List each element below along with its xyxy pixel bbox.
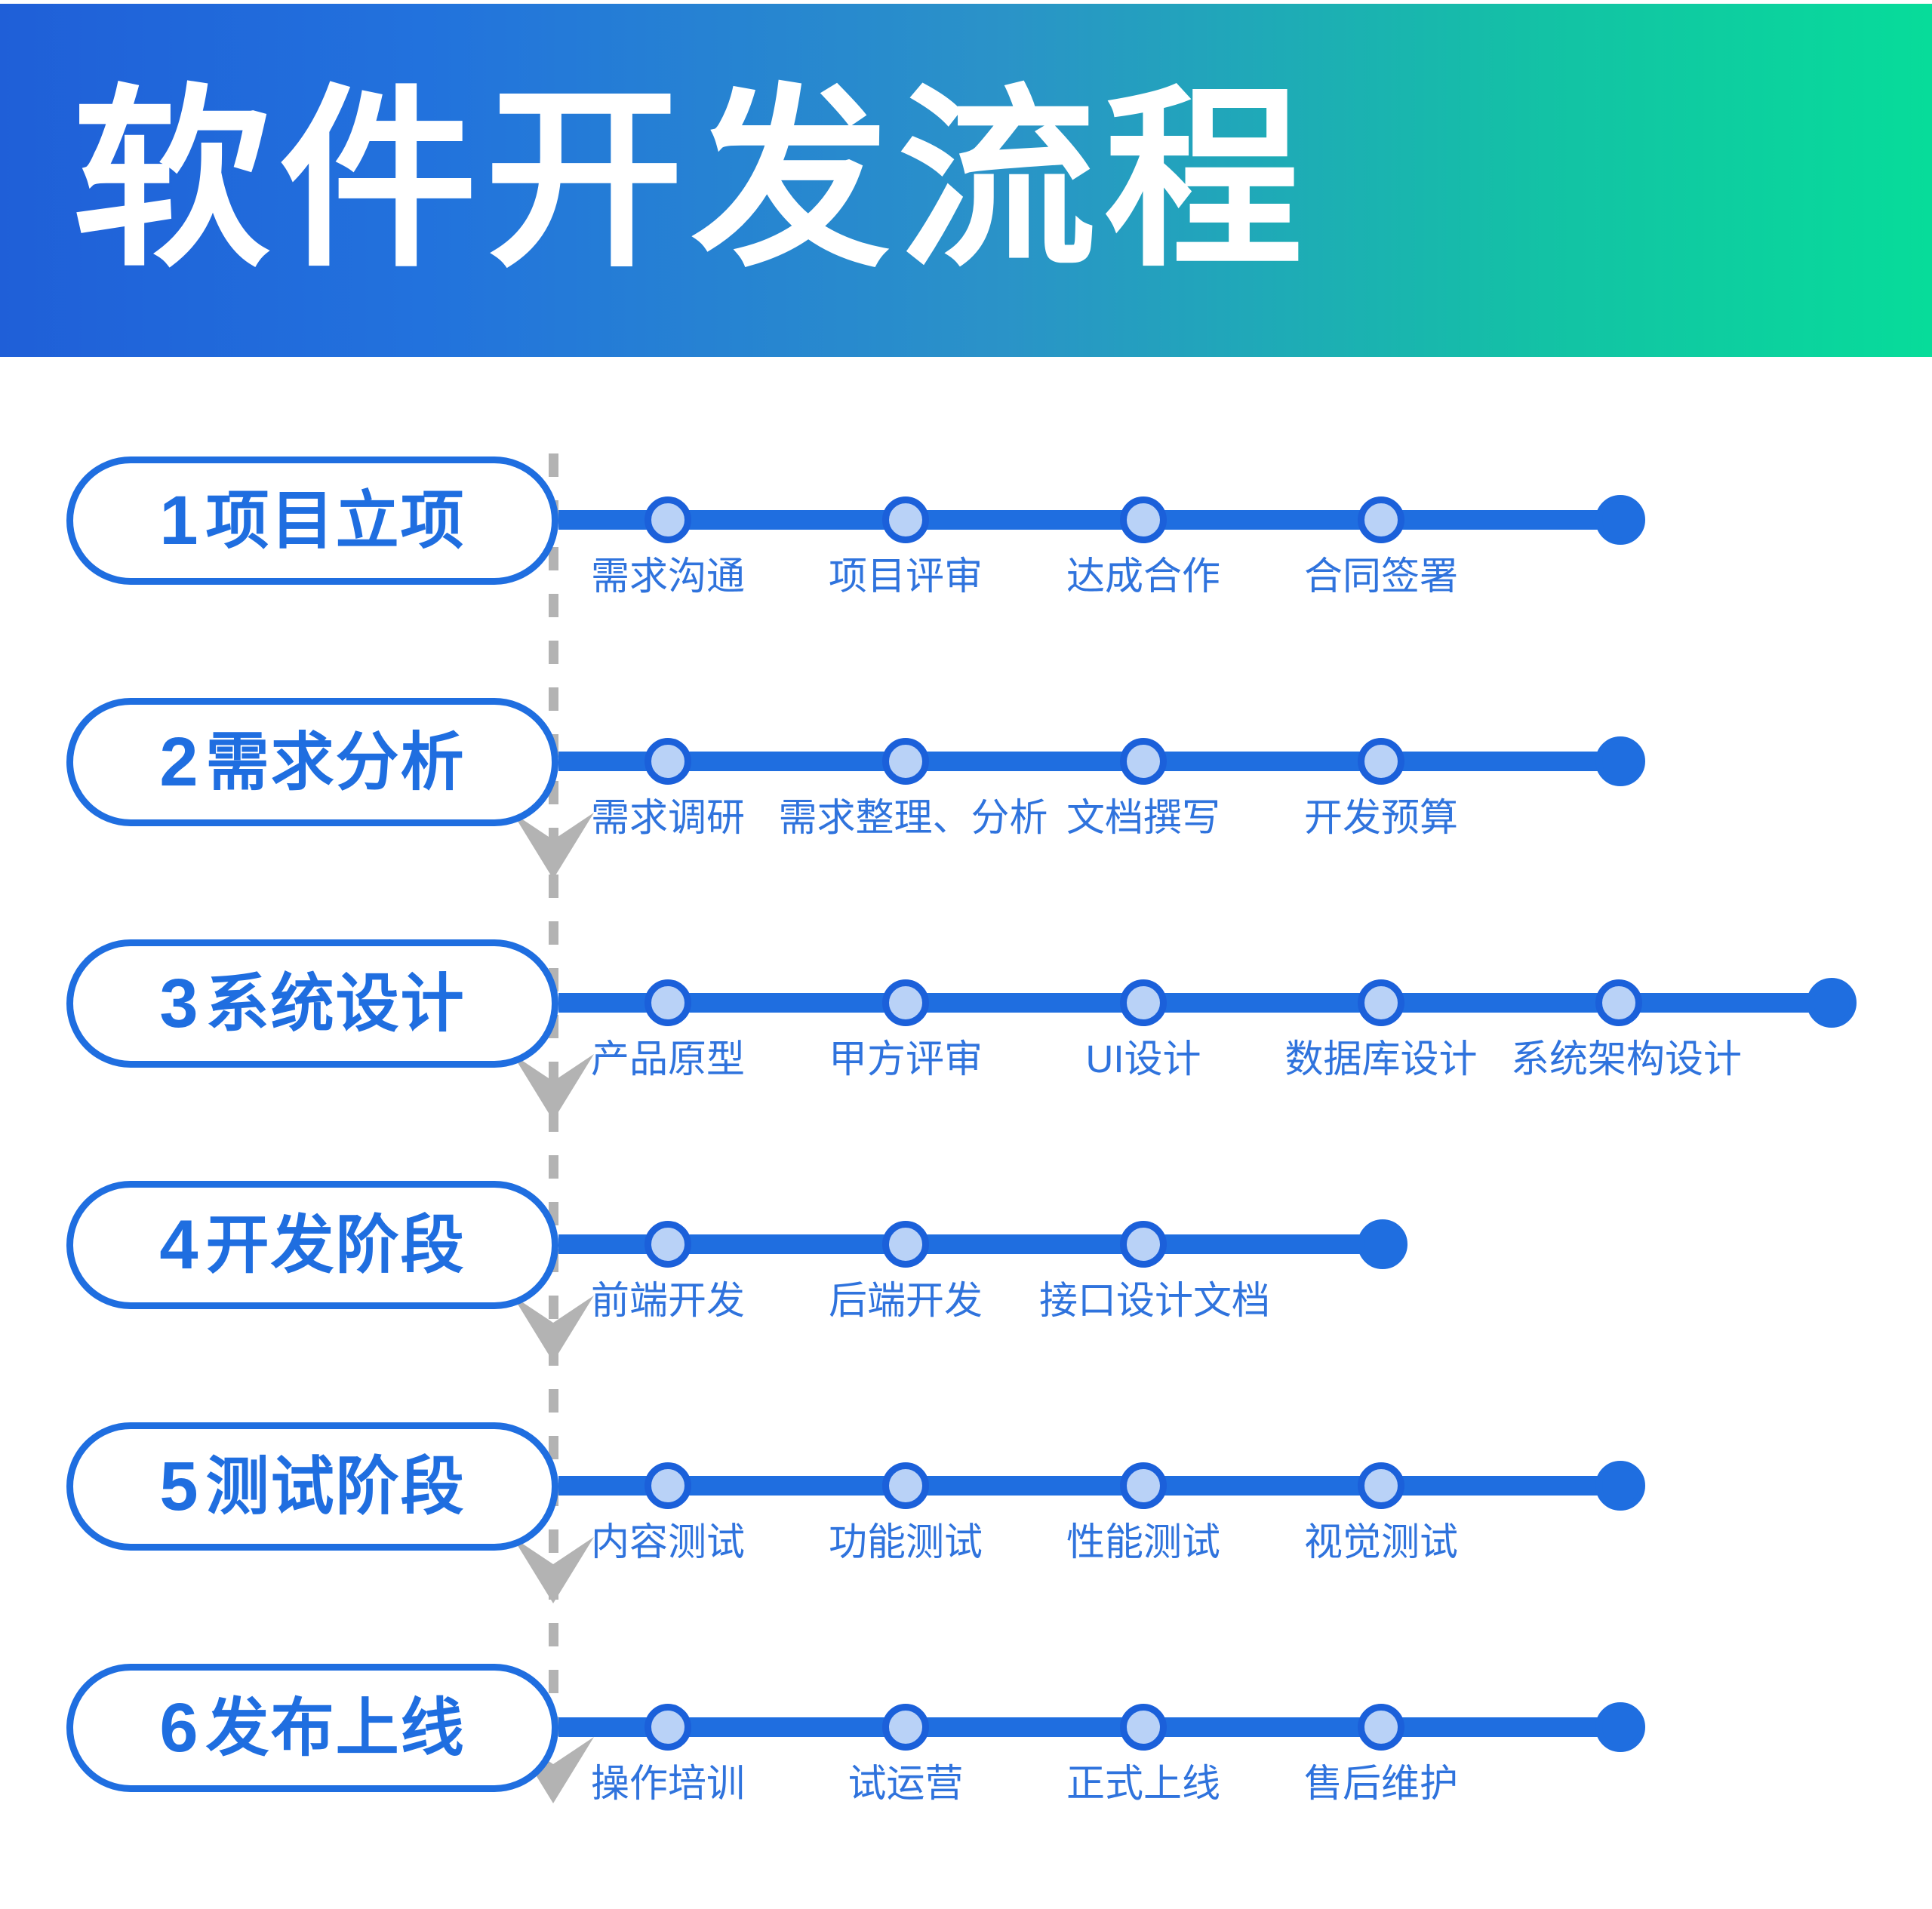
step-number-6: 6 xyxy=(159,1693,198,1763)
node-4-end[interactable] xyxy=(1358,1219,1407,1269)
node-label-5-2: 功能测试 xyxy=(829,1523,983,1561)
header-banner: 软件开发流程 xyxy=(0,4,1932,357)
node-label-2-2: 需求整理、分析 xyxy=(778,798,1048,837)
node-label-5-1: 内容测试 xyxy=(591,1523,745,1561)
node-label-3-5: 系统架构设计 xyxy=(1511,1040,1742,1078)
node-label-2-1: 需求调研 xyxy=(591,798,745,837)
step-name-6: 发布上线 xyxy=(206,1696,466,1760)
flow-row-3: 3 系统设计 产品原型 甲方评审 UI设计 数据库设计 系统架构设计 xyxy=(0,939,1932,1090)
node-6-4[interactable] xyxy=(1358,1704,1404,1751)
node-1-2[interactable] xyxy=(882,496,929,543)
track-line-3 xyxy=(558,993,1841,1013)
node-4-2[interactable] xyxy=(882,1221,929,1268)
flow-row-2: 2 需求分析 需求调研 需求整理、分析 文档撰写 开发预算 xyxy=(0,698,1932,849)
node-label-2-4: 开发预算 xyxy=(1304,798,1458,837)
node-label-3-1: 产品原型 xyxy=(591,1040,745,1078)
node-1-3[interactable] xyxy=(1120,496,1167,543)
node-label-1-1: 需求沟通 xyxy=(591,557,745,595)
track-line-1 xyxy=(558,510,1630,530)
node-5-1[interactable] xyxy=(645,1462,691,1509)
track-line-6 xyxy=(558,1717,1630,1737)
node-2-3[interactable] xyxy=(1120,738,1167,785)
flow-row-1: 1 项目立项 需求沟通 项目评审 达成合作 合同签署 xyxy=(0,456,1932,607)
node-label-1-4: 合同签署 xyxy=(1304,557,1458,595)
step-name-2: 需求分析 xyxy=(206,730,466,794)
node-1-4[interactable] xyxy=(1358,496,1404,543)
node-label-3-3: UI设计 xyxy=(1085,1040,1201,1078)
step-badge-6[interactable]: 6 发布上线 xyxy=(66,1664,558,1792)
flow-row-4: 4 开发阶段 前端开发 后端开发 接口设计文档 xyxy=(0,1181,1932,1332)
node-4-3[interactable] xyxy=(1120,1221,1167,1268)
node-label-2-3: 文档撰写 xyxy=(1066,798,1220,837)
node-3-end[interactable] xyxy=(1807,978,1857,1028)
node-6-2[interactable] xyxy=(882,1704,929,1751)
node-3-1[interactable] xyxy=(645,979,691,1026)
step-number-4: 4 xyxy=(159,1210,198,1280)
node-2-1[interactable] xyxy=(645,738,691,785)
node-5-4[interactable] xyxy=(1358,1462,1404,1509)
node-label-4-1: 前端开发 xyxy=(591,1281,745,1320)
step-number-3: 3 xyxy=(159,969,198,1038)
node-label-5-3: 性能测试 xyxy=(1066,1523,1220,1561)
step-name-1: 项目立项 xyxy=(206,489,466,552)
node-4-1[interactable] xyxy=(645,1221,691,1268)
node-6-3[interactable] xyxy=(1120,1704,1167,1751)
step-name-4: 开发阶段 xyxy=(206,1213,466,1277)
step-name-5: 测试阶段 xyxy=(206,1455,466,1518)
node-1-1[interactable] xyxy=(645,496,691,543)
node-label-3-4: 数据库设计 xyxy=(1284,1040,1477,1078)
node-label-6-4: 售后维护 xyxy=(1304,1764,1458,1803)
node-label-4-3: 接口设计文档 xyxy=(1039,1281,1270,1320)
node-label-4-2: 后端开发 xyxy=(829,1281,983,1320)
step-number-5: 5 xyxy=(159,1452,198,1521)
step-badge-2[interactable]: 2 需求分析 xyxy=(66,698,558,826)
node-6-end[interactable] xyxy=(1595,1702,1645,1752)
node-label-1-2: 项目评审 xyxy=(829,557,983,595)
node-label-3-2: 甲方评审 xyxy=(829,1040,983,1078)
track-line-5 xyxy=(558,1476,1630,1496)
flow-row-5: 5 测试阶段 内容测试 功能测试 性能测试 视觉测试 xyxy=(0,1422,1932,1573)
node-1-end[interactable] xyxy=(1595,495,1645,545)
node-6-1[interactable] xyxy=(645,1704,691,1751)
node-3-5[interactable] xyxy=(1595,979,1642,1026)
step-badge-5[interactable]: 5 测试阶段 xyxy=(66,1422,558,1551)
node-5-3[interactable] xyxy=(1120,1462,1167,1509)
node-3-3[interactable] xyxy=(1120,979,1167,1026)
step-number-1: 1 xyxy=(159,486,198,555)
flow-row-6: 6 发布上线 操作培训 试运营 正式上线 售后维护 xyxy=(0,1664,1932,1815)
node-5-end[interactable] xyxy=(1595,1461,1645,1511)
node-3-4[interactable] xyxy=(1358,979,1404,1026)
node-label-5-4: 视觉测试 xyxy=(1304,1523,1458,1561)
flow-diagram: 1 项目立项 需求沟通 项目评审 达成合作 合同签署 2 需求分析 需求调研 需… xyxy=(0,357,1932,1909)
page-title: 软件开发流程 xyxy=(72,83,1310,278)
step-number-2: 2 xyxy=(159,727,198,797)
step-badge-4[interactable]: 4 开发阶段 xyxy=(66,1181,558,1309)
node-label-6-2: 试运营 xyxy=(848,1764,963,1803)
node-2-2[interactable] xyxy=(882,738,929,785)
step-badge-1[interactable]: 1 项目立项 xyxy=(66,456,558,585)
node-5-2[interactable] xyxy=(882,1462,929,1509)
node-label-6-1: 操作培训 xyxy=(591,1764,745,1803)
node-3-2[interactable] xyxy=(882,979,929,1026)
node-label-6-3: 正式上线 xyxy=(1066,1764,1220,1803)
node-label-1-3: 达成合作 xyxy=(1066,557,1220,595)
node-2-end[interactable] xyxy=(1595,736,1645,786)
track-line-2 xyxy=(558,752,1630,771)
step-name-3: 系统设计 xyxy=(206,972,466,1035)
node-2-4[interactable] xyxy=(1358,738,1404,785)
step-badge-3[interactable]: 3 系统设计 xyxy=(66,939,558,1068)
